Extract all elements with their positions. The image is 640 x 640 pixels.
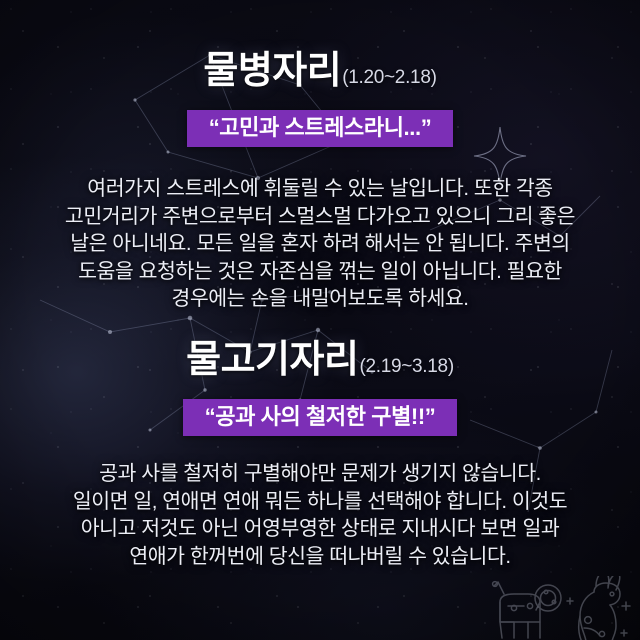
sign-body-aquarius: 여러가지 스트레스에 휘둘릴 수 있는 날입니다. 또한 각종 고민거리가 주변…	[26, 175, 614, 313]
sign-banner-pisces: “공과 사의 철저한 구별!!”	[183, 399, 458, 436]
sign-heading-pisces: 물고기자리(2.19~3.18)	[0, 341, 640, 379]
horoscope-card: 물병자리(1.20~2.18) “고민과 스트레스라니...” 여러가지 스트레…	[0, 0, 640, 640]
body-row-aquarius: 여러가지 스트레스에 휘둘릴 수 있는 날입니다. 또한 각종 고민거리가 주변…	[0, 175, 640, 313]
banner-row-pisces: “공과 사의 철저한 구별!!”	[0, 399, 640, 436]
sign-date-range: (1.20~2.18)	[342, 67, 436, 88]
sign-heading-aquarius: 물병자리(1.20~2.18)	[0, 52, 640, 90]
section-pisces: 물고기자리(2.19~3.18)	[0, 341, 640, 379]
section-aquarius: 물병자리(1.20~2.18)	[0, 52, 640, 90]
body-row-pisces: 공과 사를 철저히 구별해야만 문제가 생기지 않습니다. 일이면 일, 연애면…	[0, 460, 640, 570]
sign-banner-aquarius: “고민과 스트레스라니...”	[187, 110, 454, 147]
sign-body-pisces: 공과 사를 철저히 구별해야만 문제가 생기지 않습니다. 일이면 일, 연애면…	[26, 460, 614, 570]
card-content: 물병자리(1.20~2.18) “고민과 스트레스라니...” 여러가지 스트레…	[0, 0, 640, 640]
sign-name: 물병자리	[203, 50, 341, 92]
sign-name: 물고기자리	[186, 339, 358, 381]
sign-date-range: (2.19~3.18)	[359, 356, 453, 377]
banner-row-aquarius: “고민과 스트레스라니...”	[0, 110, 640, 147]
